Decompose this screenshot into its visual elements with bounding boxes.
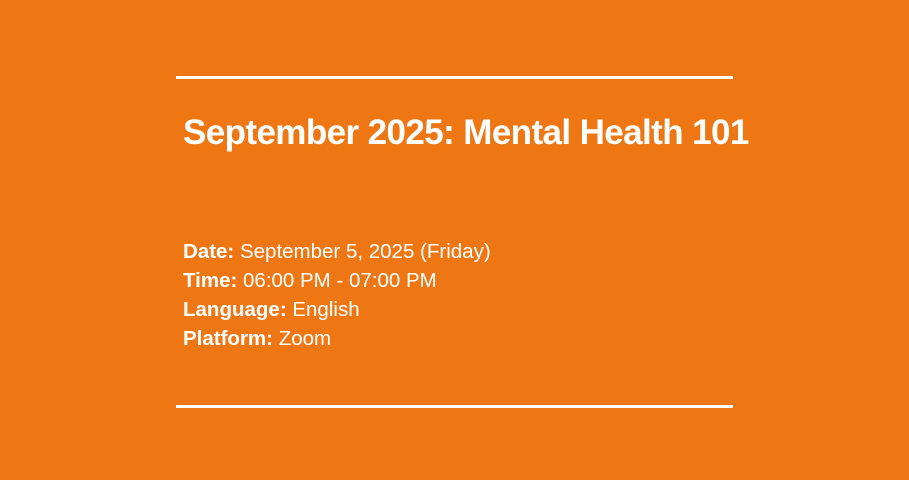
divider-top [176,76,733,79]
detail-value-platform: Zoom [279,327,331,350]
detail-value-time: 06:00 PM - 07:00 PM [243,269,437,292]
detail-row-platform: Platform: Zoom [183,324,491,353]
detail-row-date: Date: September 5, 2025 (Friday) [183,237,491,266]
detail-row-time: Time: 06:00 PM - 07:00 PM [183,266,491,295]
detail-label-date: Date: [183,240,234,263]
detail-value-date: September 5, 2025 (Friday) [240,240,491,263]
card-content: September 2025: Mental Health 101 Date: … [183,112,843,155]
event-title: September 2025: Mental Health 101 [183,112,843,155]
detail-row-language: Language: English [183,295,491,324]
detail-label-language: Language: [183,298,287,321]
event-announcement-card: September 2025: Mental Health 101 Date: … [0,0,909,480]
detail-label-platform: Platform: [183,327,273,350]
detail-value-language: English [292,298,359,321]
event-details-list: Date: September 5, 2025 (Friday) Time: 0… [183,237,491,353]
detail-label-time: Time: [183,269,237,292]
divider-bottom [176,405,733,408]
